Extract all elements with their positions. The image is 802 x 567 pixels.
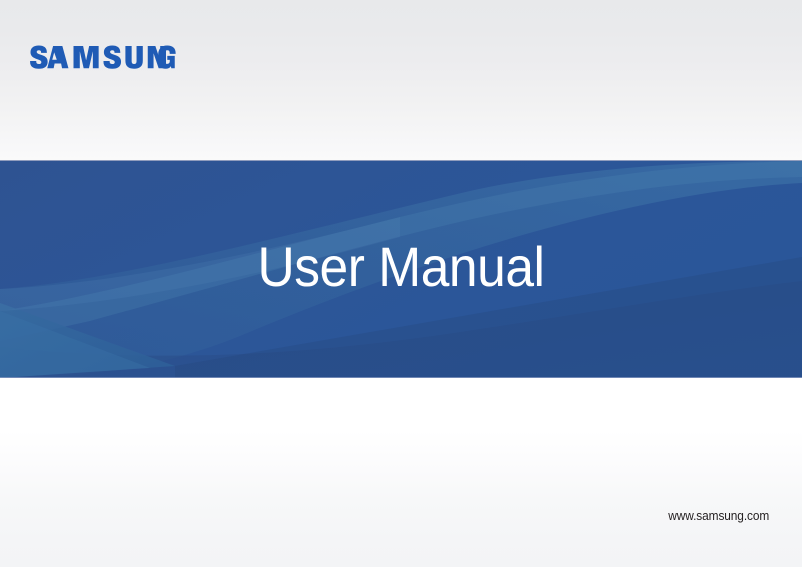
samsung-wordmark-icon [29,41,179,71]
cover-banner: User Manual [0,161,802,378]
page-title: User Manual [32,161,770,378]
website-url[interactable]: www.samsung.com [668,509,769,523]
user-manual-cover-page: User Manual www.samsung.com [0,0,802,567]
cover-body-area [0,378,802,567]
page-header [0,0,802,161]
